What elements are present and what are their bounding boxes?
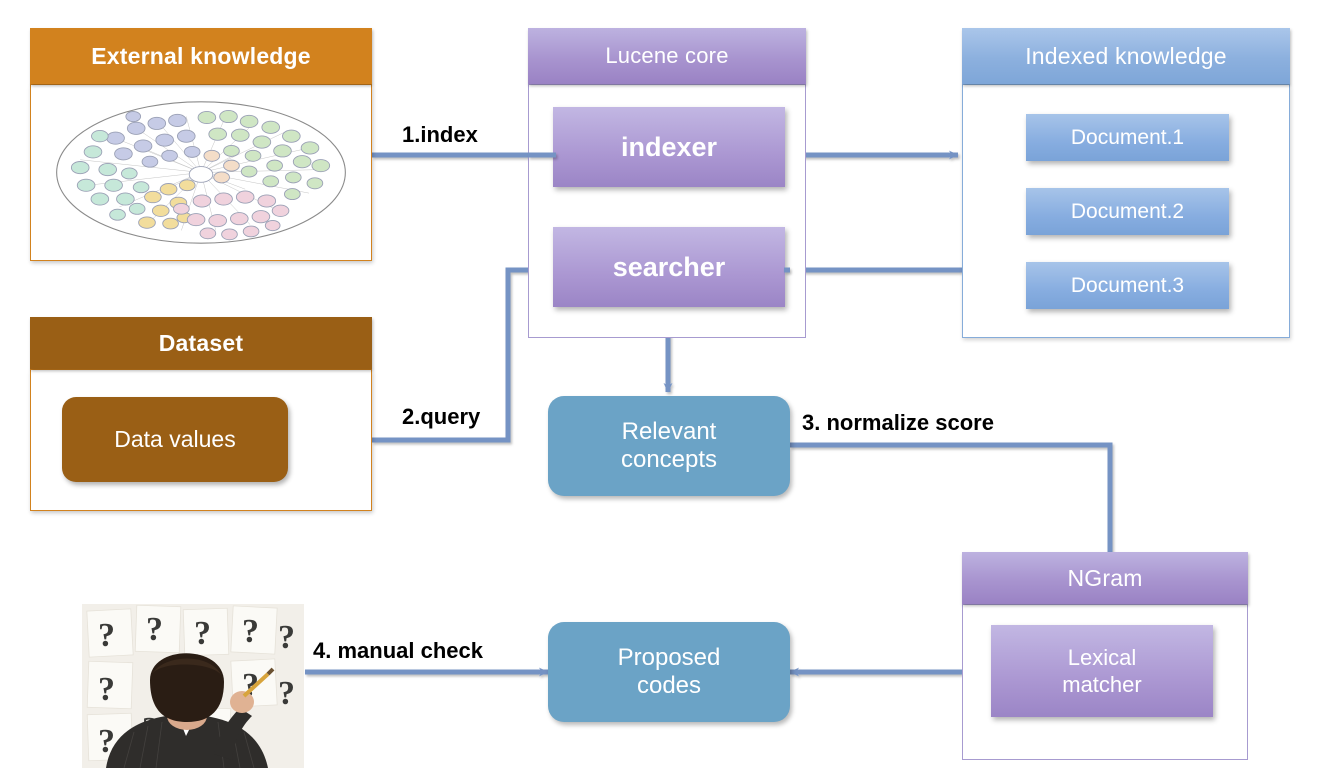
document-label-3: Document.3 — [1071, 274, 1184, 298]
proposed-codes-node[interactable]: Proposed codes — [548, 622, 790, 722]
lucene-core-title: Lucene core — [605, 43, 728, 69]
man-facing-question-marks-icon: ??? ?? ??? ??? — [82, 604, 304, 768]
data-values-label: Data values — [114, 426, 235, 453]
step-2-text: 2.query — [402, 404, 480, 429]
indexed-knowledge-body: Document.1 Document.2 Document.3 — [962, 84, 1290, 338]
relevant-concepts-line2: concepts — [621, 446, 717, 474]
step-label-3: 3. normalize score — [802, 410, 994, 436]
concept-network-graph — [37, 91, 365, 254]
ngram-title: NGram — [1067, 565, 1142, 592]
dataset-title: Dataset — [159, 330, 244, 357]
svg-text:?: ? — [146, 611, 163, 648]
document-label-2: Document.2 — [1071, 200, 1184, 224]
svg-text:?: ? — [278, 619, 295, 656]
svg-text:?: ? — [98, 671, 115, 708]
diagram-canvas: External knowledge — [0, 0, 1322, 768]
dataset-header: Dataset — [30, 317, 372, 369]
ngram-panel: NGram Lexical matcher — [962, 552, 1248, 760]
step-label-4: 4. manual check — [313, 638, 483, 664]
external-knowledge-title: External knowledge — [91, 43, 311, 70]
lucene-core-header: Lucene core — [528, 28, 806, 84]
external-knowledge-body — [30, 84, 372, 261]
relevant-concepts-line1: Relevant — [622, 418, 717, 446]
searcher-label: searcher — [613, 252, 726, 283]
searcher-chip[interactable]: searcher — [553, 227, 785, 307]
manual-check-photo: ??? ?? ??? ??? — [82, 604, 304, 768]
indexer-label: indexer — [621, 132, 717, 163]
data-values-chip[interactable]: Data values — [62, 397, 288, 482]
ngram-body: Lexical matcher — [962, 604, 1248, 760]
indexed-knowledge-header: Indexed knowledge — [962, 28, 1290, 84]
proposed-codes-line1: Proposed — [618, 644, 721, 672]
step-label-2: 2.query — [402, 404, 480, 430]
document-label-1: Document.1 — [1071, 126, 1184, 150]
indexer-chip[interactable]: indexer — [553, 107, 785, 187]
svg-text:?: ? — [194, 615, 211, 652]
relevant-concepts-node[interactable]: Relevant concepts — [548, 396, 790, 496]
document-chip-1[interactable]: Document.1 — [1026, 114, 1229, 161]
lexical-matcher-line2: matcher — [1062, 671, 1141, 699]
wire-normalize-score — [790, 445, 1110, 552]
document-chip-2[interactable]: Document.2 — [1026, 188, 1229, 235]
step-1-text: 1.index — [402, 122, 478, 147]
svg-text:?: ? — [242, 613, 259, 650]
step-3-text: 3. normalize score — [802, 410, 994, 435]
external-knowledge-header: External knowledge — [30, 28, 372, 84]
concept-network-graph-icon — [37, 91, 365, 254]
svg-text:?: ? — [278, 675, 295, 712]
proposed-codes-line2: codes — [637, 672, 701, 700]
indexed-knowledge-panel: Indexed knowledge Document.1 Document.2 … — [962, 28, 1290, 338]
dataset-panel: Dataset Data values — [30, 317, 372, 511]
external-knowledge-panel: External knowledge — [30, 28, 372, 261]
lucene-core-panel: Lucene core indexer searcher — [528, 28, 806, 338]
step-label-1: 1.index — [402, 122, 478, 148]
indexed-knowledge-title: Indexed knowledge — [1025, 43, 1227, 70]
document-chip-3[interactable]: Document.3 — [1026, 262, 1229, 309]
lucene-core-body: indexer searcher — [528, 84, 806, 338]
lexical-matcher-chip[interactable]: Lexical matcher — [991, 625, 1213, 717]
ngram-header: NGram — [962, 552, 1248, 604]
step-4-text: 4. manual check — [313, 638, 483, 663]
lexical-matcher-line1: Lexical — [1068, 644, 1136, 672]
dataset-body: Data values — [30, 369, 372, 511]
svg-text:?: ? — [98, 617, 115, 654]
